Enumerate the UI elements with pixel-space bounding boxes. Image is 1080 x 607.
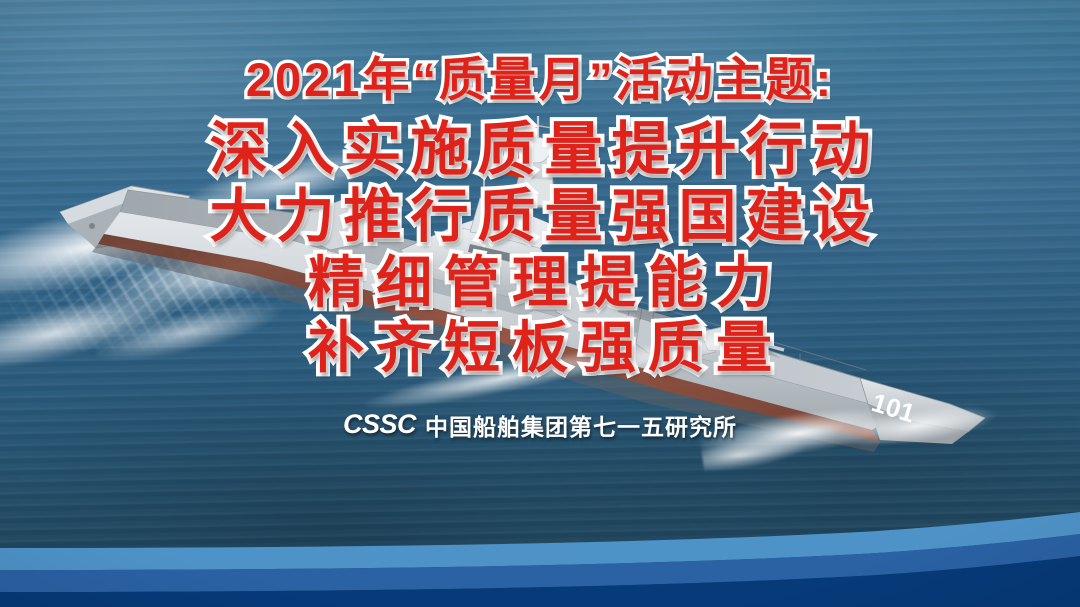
- slogan-list: 深入实施质量提升行动 大力推行质量强国建设 精细管理提能力 补齐短板强质量: [200, 118, 879, 379]
- cssc-logo-wordmark: CSSC: [343, 409, 416, 440]
- footer-credit: CSSC 中国船舶集团第七一五研究所: [343, 408, 737, 442]
- page-title: 2021年“质量月”活动主题:: [246, 55, 834, 104]
- organization-name: 中国船舶集团第七一五研究所: [425, 408, 737, 442]
- quality-month-poster: 101: [0, 0, 1080, 607]
- slogan-line-1: 深入实施质量提升行动: [200, 118, 879, 183]
- slogan-line-4: 补齐短板强质量: [296, 317, 784, 380]
- slogan-line-2: 大力推行质量强国建设: [200, 185, 879, 250]
- bottom-wave-bands: [0, 512, 1080, 607]
- slogan-line-3: 精细管理提能力: [296, 252, 784, 315]
